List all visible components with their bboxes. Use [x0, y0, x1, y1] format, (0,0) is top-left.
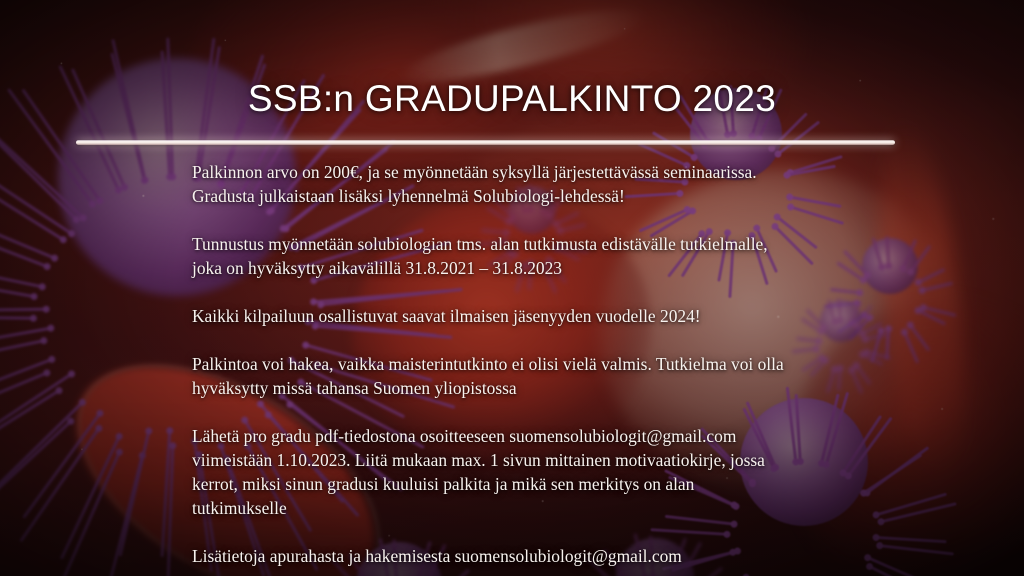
- paragraph-more-info: Lisätietoja apurahasta ja hakemisesta su…: [192, 544, 892, 568]
- paragraph-membership: Kaikki kilpailuun osallistuvat saavat il…: [192, 304, 892, 328]
- presentation-slide: SSB:n GRADUPALKINTO 2023 Palkinnon arvo …: [0, 0, 1024, 576]
- paragraph-application: Palkintoa voi hakea, vaikka maisterintut…: [192, 352, 892, 400]
- body-text-block: Palkinnon arvo on 200€, ja se myönnetään…: [192, 160, 892, 568]
- paragraph-prize-value: Palkinnon arvo on 200€, ja se myönnetään…: [192, 160, 892, 208]
- title-divider: [76, 140, 895, 145]
- paragraph-eligibility: Tunnustus myönnetään solubiologian tms. …: [192, 232, 892, 280]
- paragraph-submission: Lähetä pro gradu pdf-tiedostona osoittee…: [192, 424, 892, 520]
- slide-content: SSB:n GRADUPALKINTO 2023 Palkinnon arvo …: [0, 0, 1024, 576]
- page-title: SSB:n GRADUPALKINTO 2023: [0, 78, 1024, 120]
